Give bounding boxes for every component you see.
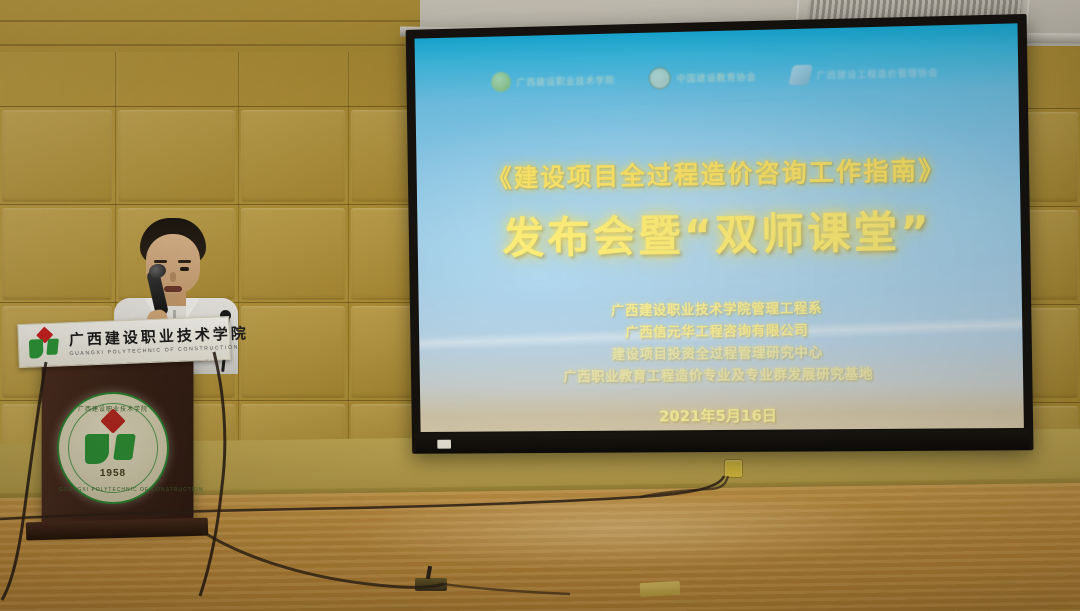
emblem-founding-year: 1958	[59, 468, 167, 479]
slide-logo-1-text: 广西建设职业技术学院	[517, 73, 616, 88]
school-emblem: 广西建设职业技术学院 1958 GUANGXI POLYTECHNIC OF C…	[57, 392, 169, 504]
slide-logo-2: 中国建设教育协会	[649, 65, 757, 89]
emblem-green-right-icon	[113, 434, 136, 460]
screen-pull-tab	[437, 440, 451, 449]
projected-slide: 广西建设职业技术学院 中国建设教育协会 广西建设工程造价管理协会 《建设项目全过…	[415, 23, 1024, 432]
emblem-arc-bottom-text: GUANGXI POLYTECHNIC OF CONSTRUCTION	[59, 487, 167, 493]
screen-bottom-rail	[416, 430, 1030, 454]
emblem-green-left-icon	[85, 434, 109, 464]
slide-logo-1: 广西建设职业技术学院	[491, 69, 615, 92]
slide-logo-3: 广西建设工程造价管理协会	[790, 62, 938, 86]
school-logo-icon	[26, 329, 63, 360]
projection-screen: 广西建设职业技术学院 中国建设教育协会 广西建设工程造价管理协会 《建设项目全过…	[406, 14, 1034, 454]
slide-date: 2021年5月16日	[420, 403, 1024, 428]
slide-organization-list: 广西建设职业技术学院管理工程系 广西信元华工程咨询有限公司 建设项目投资全过程管…	[419, 295, 1024, 390]
slide-title-line2: 发布会暨“双师课堂”	[417, 196, 1021, 268]
slide-logo-2-text: 中国建设教育协会	[677, 70, 757, 85]
floor-reflection	[340, 496, 901, 574]
swoosh-logo-icon	[788, 65, 813, 86]
podium-nameplate: 广西建设职业技术学院 GUANGXI POLYTECHNIC OF CONSTR…	[17, 316, 231, 368]
floor-cable-device	[415, 578, 447, 591]
seal-logo-icon	[649, 67, 671, 89]
wall-outlet	[724, 459, 743, 478]
floor-plate	[640, 581, 681, 597]
slide-logo-3-text: 广西建设工程造价管理协会	[817, 65, 939, 81]
conference-photo: 广西建设职业技术学院 中国建设教育协会 广西建设工程造价管理协会 《建设项目全过…	[0, 0, 1080, 611]
leaf-logo-icon	[491, 72, 511, 92]
